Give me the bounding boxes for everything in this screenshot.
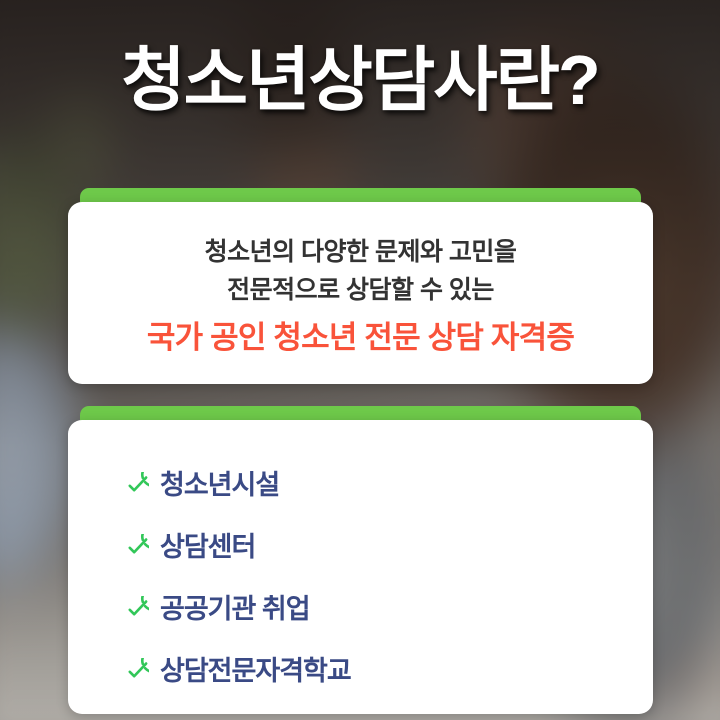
- list-item: 공공기관 취업: [122, 578, 653, 640]
- statement-line-1: 청소년의 다양한 문제와 고민을: [68, 233, 653, 271]
- list-item-label: 공공기관 취업: [160, 596, 310, 623]
- list-item-label: 상담전문자격학교: [160, 658, 351, 685]
- statement-card-wrapper: 청소년의 다양한 문제와 고민을 전문적으로 상담할 수 있는 국가 공인 청소…: [68, 188, 653, 384]
- page-title: 청소년상담사란?: [0, 44, 720, 118]
- circle-check-icon: [122, 596, 149, 623]
- circle-check-icon: [122, 472, 149, 499]
- statement-line-2: 전문적으로 상담할 수 있는: [68, 271, 653, 309]
- checklist-card: 청소년시설 상담센터 공공기관 취업: [68, 420, 653, 714]
- circle-check-icon: [122, 534, 149, 561]
- circle-check-icon: [122, 658, 149, 685]
- checklist-card-wrapper: 청소년시설 상담센터 공공기관 취업: [68, 406, 653, 714]
- checklist: 청소년시설 상담센터 공공기관 취업: [68, 454, 653, 702]
- promo-poster: 청소년상담사란? 청소년의 다양한 문제와 고민을 전문적으로 상담할 수 있는…: [0, 0, 720, 720]
- list-item: 청소년시설: [122, 454, 653, 516]
- list-item-label: 상담센터: [160, 534, 255, 561]
- list-item: 상담전문자격학교: [122, 640, 653, 702]
- statement-highlight: 국가 공인 청소년 전문 상담 자격증: [68, 315, 653, 362]
- list-item-label: 청소년시설: [160, 472, 279, 499]
- statement-card: 청소년의 다양한 문제와 고민을 전문적으로 상담할 수 있는 국가 공인 청소…: [68, 202, 653, 384]
- list-item: 상담센터: [122, 516, 653, 578]
